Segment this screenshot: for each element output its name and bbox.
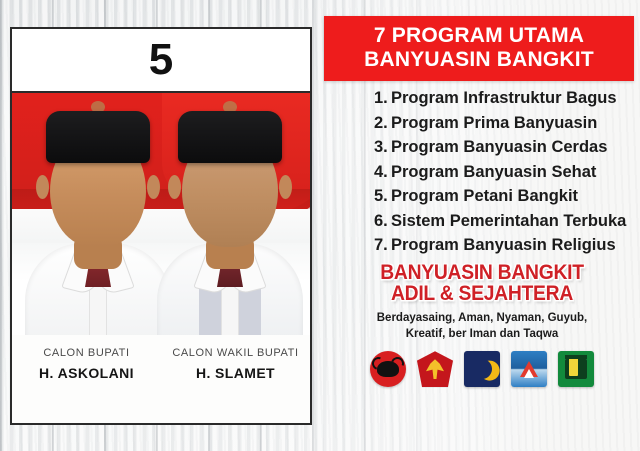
candidate-portrait-slamet (160, 93, 300, 339)
garuda-bird-icon (426, 359, 444, 379)
ballot-number: 5 (149, 38, 173, 82)
gerindra-logo-icon (417, 351, 453, 387)
program-text: Program Banyuasin Sehat (391, 163, 596, 181)
program-panel: 7 PROGRAM UTAMA BANYUASIN BANGKIT 1.Prog… (324, 0, 640, 451)
candidate-card: 5 (10, 27, 312, 425)
program-text: Program Banyuasin Cerdas (391, 138, 607, 156)
party-logo-row (324, 351, 640, 387)
pkb-logo-icon (558, 351, 594, 387)
ear-left (36, 175, 49, 199)
program-item: 4.Program Banyuasin Sehat (374, 164, 640, 181)
crescent-icon (468, 356, 495, 383)
campaign-slogan: BANYUASIN BANGKIT ADIL & SEJAHTERA (324, 262, 640, 306)
program-item: 5.Program Petani Bangkit (374, 188, 640, 205)
program-index: 2. (374, 115, 391, 132)
candidate-role: CALON WAKIL BUPATI (161, 347, 310, 359)
candidate-photo (12, 93, 310, 339)
program-index: 7. (374, 237, 391, 254)
program-list: 1.Program Infrastruktur Bagus 2.Program … (334, 90, 640, 254)
tagline-line-1: Berdayasaing, Aman, Nyaman, Guyub, (324, 311, 640, 327)
peci-cap (46, 111, 150, 163)
program-banner: 7 PROGRAM UTAMA BANYUASIN BANGKIT (324, 16, 634, 81)
program-text: Program Prima Banyuasin (391, 114, 597, 132)
candidate-entry-wakil-bupati: CALON WAKIL BUPATI H. SLAMET (161, 347, 310, 381)
banner-line-2: BANYUASIN BANGKIT (330, 48, 628, 72)
program-index: 6. (374, 213, 391, 230)
program-text: Sistem Pemerintahan Terbuka (391, 212, 626, 230)
program-item: 1.Program Infrastruktur Bagus (374, 90, 640, 107)
banner-line-1: 7 PROGRAM UTAMA (330, 24, 628, 48)
campaign-tagline: Berdayasaing, Aman, Nyaman, Guyub, Kreat… (324, 311, 640, 342)
candidate-names-row: CALON BUPATI H. ASKOLANI CALON WAKIL BUP… (12, 335, 310, 423)
candidate-entry-bupati: CALON BUPATI H. ASKOLANI (12, 347, 161, 381)
program-index: 3. (374, 139, 391, 156)
demokrat-logo-icon (511, 351, 547, 387)
slogan-line-1: BANYUASIN BANGKIT (337, 262, 628, 284)
candidate-name: H. SLAMET (161, 365, 310, 381)
program-text: Program Infrastruktur Bagus (391, 89, 617, 107)
ear-right (147, 175, 160, 199)
candidate-role: CALON BUPATI (12, 347, 161, 359)
program-index: 1. (374, 90, 391, 107)
slogan-line-2: ADIL & SEJAHTERA (337, 283, 628, 305)
peci-cap (178, 111, 282, 163)
program-item: 3.Program Banyuasin Cerdas (374, 139, 640, 156)
program-item: 2.Program Prima Banyuasin (374, 115, 640, 132)
pdi-perjuangan-logo-icon (370, 351, 406, 387)
ear-left (168, 175, 181, 199)
ear-right (279, 175, 292, 199)
ballot-number-box: 5 (12, 29, 310, 93)
globe-book-icon (565, 359, 587, 379)
program-text: Program Banyuasin Religius (391, 236, 616, 254)
tri-star-icon (520, 361, 538, 377)
tagline-line-2: Kreatif, ber Iman dan Taqwa (324, 327, 640, 343)
program-text: Program Petani Bangkit (391, 187, 578, 205)
program-index: 5. (374, 188, 391, 205)
candidate-portrait-askolani (28, 93, 168, 339)
program-item: 7.Program Banyuasin Religius (374, 237, 640, 254)
program-index: 4. (374, 164, 391, 181)
bull-head-icon (377, 361, 399, 377)
program-item: 6.Sistem Pemerintahan Terbuka (374, 213, 640, 230)
candidate-name: H. ASKOLANI (12, 365, 161, 381)
nasdem-logo-icon (464, 351, 500, 387)
